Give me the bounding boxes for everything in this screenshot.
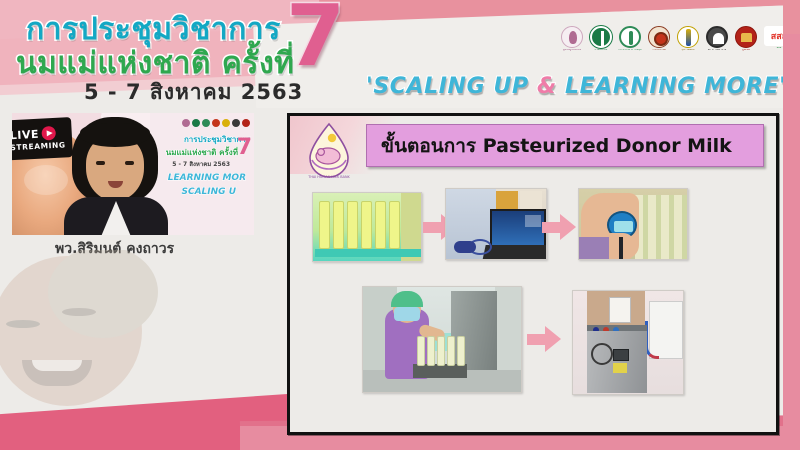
flow-arrow-2 — [542, 214, 576, 240]
photo-nurse-loading-pasteurizer — [362, 286, 522, 393]
flow-arrow-3 — [527, 326, 561, 352]
speaker-bangs — [80, 123, 150, 147]
video-poster-mini-logos — [182, 119, 250, 127]
svg-text:THAI HUMAN MILK BANK: THAI HUMAN MILK BANK — [307, 175, 350, 179]
panel-title-chip: ขั้นตอนการ Pasteurized Donor Milk — [366, 124, 764, 167]
video-poster-tagline-line1: LEARNING MOR — [168, 173, 246, 183]
partner-logo-strip: มูลนิธิศูนย์นมแม่ กรมอนามัย กระทรวงสาธาร… — [560, 26, 795, 62]
panel-title-text: ขั้นตอนการ Pasteurized Donor Milk — [381, 131, 732, 161]
video-poster-tagline-line2: SCALING U — [182, 187, 237, 197]
right-pink-gutter-top — [783, 0, 800, 34]
live-video-thumbnail[interactable]: การประชุมวิชาการ นมแม่แห่งชาติ ครั้งที่ … — [12, 113, 254, 235]
royal-patronage-logo: มูลนิธิศูนย์นมแม่ — [560, 26, 584, 62]
play-icon[interactable] — [42, 126, 57, 141]
live-streaming-badge[interactable]: LIVE STREAMING — [12, 117, 73, 161]
ministry-public-health-logo: กรมอนามัย — [589, 26, 613, 62]
tagline-ampersand: & — [537, 74, 557, 99]
slide-stage: การประชุมวิชาการ นมแม่แห่งชาติ ครั้งที่ … — [0, 0, 800, 450]
video-poster-dates: 5 - 7 สิงหาคม 2563 — [172, 159, 230, 169]
photo-laptop-data-entry — [445, 188, 547, 260]
speaker-mouth — [108, 181, 123, 188]
slide-content-panel: THAI HUMAN MILK BANK ขั้นตอนการ Pasteuri… — [287, 113, 779, 435]
photo-hand-digital-thermometer — [578, 188, 688, 260]
video-poster-number: 7 — [237, 137, 252, 159]
conference-dates: 5 - 7 สิงหาคม 2563 — [84, 76, 303, 109]
right-pink-gutter — [783, 0, 800, 450]
human-milk-bank-drop-logo: THAI HUMAN MILK BANK — [298, 120, 360, 182]
live-badge-sublabel: STREAMING — [12, 140, 73, 152]
tagline-prefix: 'SCALING UP — [366, 74, 537, 99]
tagline-suffix: LEARNING MORE' — [557, 74, 787, 99]
unicef-thailand-logo: ยูนิเซฟ — [734, 26, 758, 62]
conference-tagline: 'SCALING UP & LEARNING MORE' — [366, 74, 786, 99]
video-speaker-figure — [64, 117, 168, 235]
nursing-council-logo: สภาการพยาบาล — [705, 26, 729, 62]
live-badge-label: LIVE — [12, 127, 39, 142]
photo-pasteurizer-machine — [572, 290, 684, 395]
department-health-logo: กระทรวงสาธารณสุข — [618, 26, 642, 62]
video-poster-title-line2: นมแม่แห่งชาติ ครั้งที่ — [166, 146, 238, 159]
edition-number: 7 — [286, 0, 345, 79]
royal-college-logo: ราชวิทยาลัย — [647, 26, 671, 62]
thai-emblem-logo: กุมารแพทย์ — [676, 26, 700, 62]
photo-milk-bottles-rack — [312, 192, 422, 262]
